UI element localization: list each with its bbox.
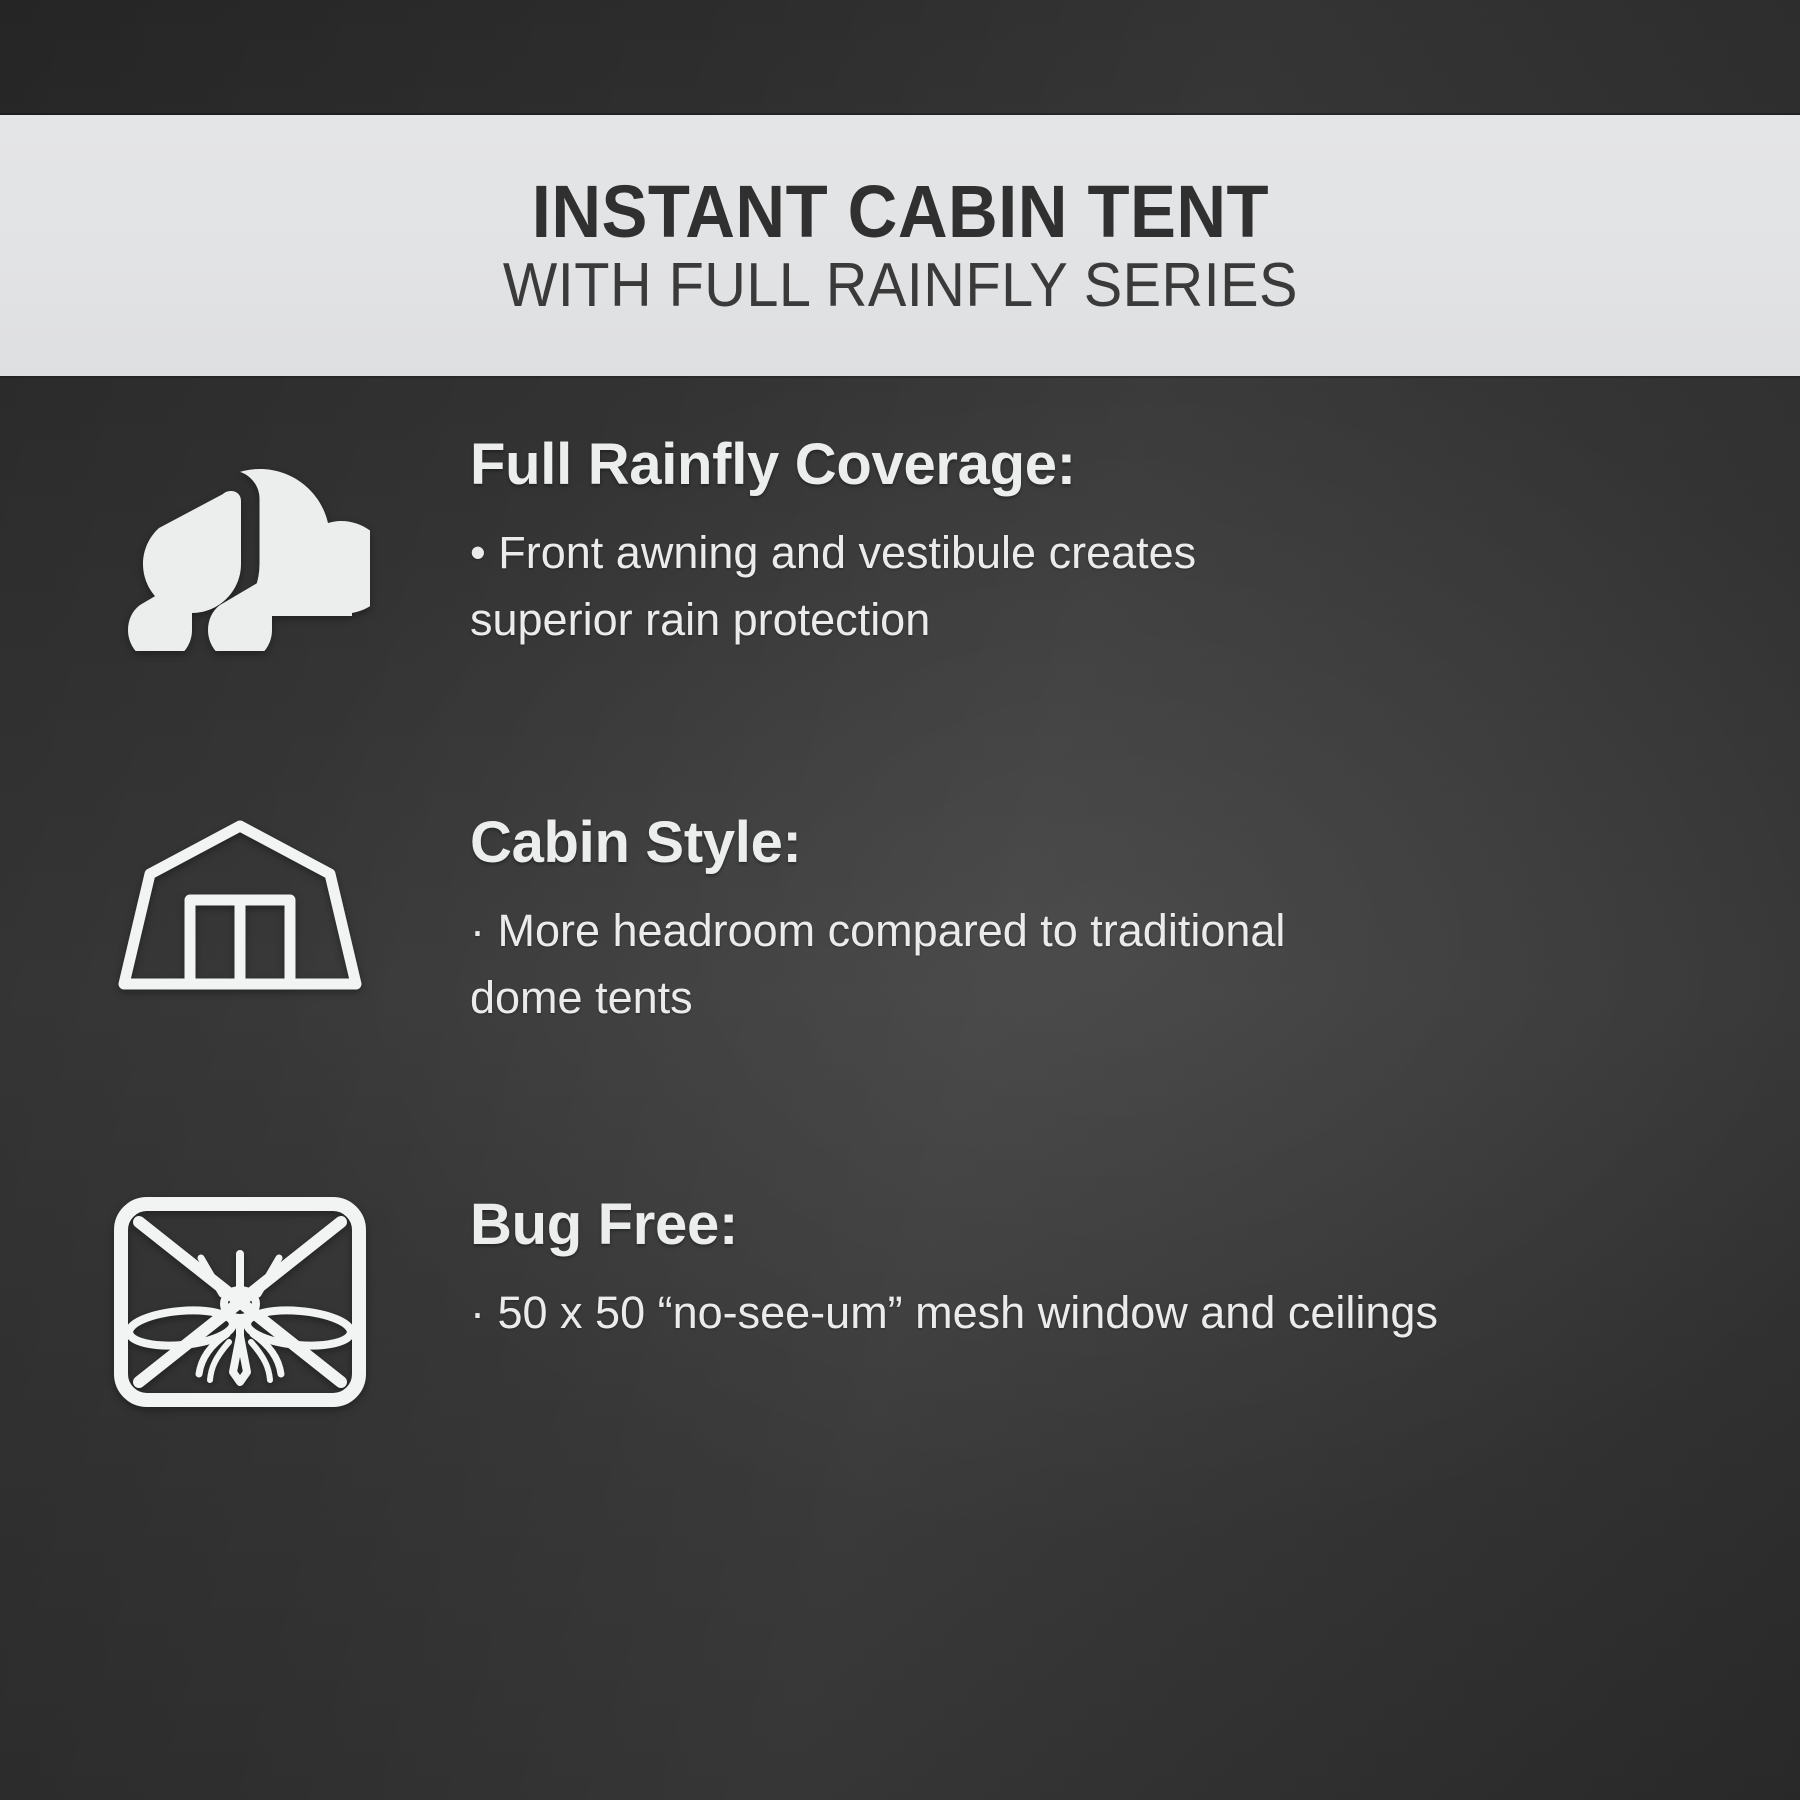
feature-title: Cabin Style: (470, 814, 1740, 872)
feature-text-cell: Cabin Style: · More headroom compared to… (470, 814, 1800, 1031)
feature-icon-cell (0, 1196, 470, 1408)
feature-icon-cell (0, 436, 470, 651)
cabin-tent-icon (104, 814, 376, 999)
page-subtitle: WITH FULL RAINFLY SERIES (502, 255, 1297, 317)
feature-description: • Front awning and vestibule creates sup… (470, 520, 1370, 653)
feature-text-cell: Full Rainfly Coverage: • Front awning an… (470, 436, 1800, 653)
feature-title: Bug Free: (470, 1196, 1740, 1254)
feature-list: Full Rainfly Coverage: • Front awning an… (0, 376, 1800, 1800)
rain-cloud-icon (110, 436, 370, 651)
feature-row: Bug Free: · 50 x 50 “no-see-um” mesh win… (0, 1196, 1800, 1408)
feature-icon-cell (0, 814, 470, 999)
page-title: INSTANT CABIN TENT (531, 175, 1268, 249)
feature-description: · 50 x 50 “no-see-um” mesh window and ce… (470, 1280, 1490, 1347)
feature-title: Full Rainfly Coverage: (470, 436, 1740, 494)
feature-text-cell: Bug Free: · 50 x 50 “no-see-um” mesh win… (470, 1196, 1800, 1347)
feature-description: · More headroom compared to traditional … (470, 898, 1370, 1031)
no-bugs-icon (109, 1196, 371, 1408)
product-feature-infographic: INSTANT CABIN TENT WITH FULL RAINFLY SER… (0, 0, 1800, 1800)
feature-row: Cabin Style: · More headroom compared to… (0, 814, 1800, 1031)
header-banner: INSTANT CABIN TENT WITH FULL RAINFLY SER… (0, 115, 1800, 376)
feature-row: Full Rainfly Coverage: • Front awning an… (0, 436, 1800, 653)
